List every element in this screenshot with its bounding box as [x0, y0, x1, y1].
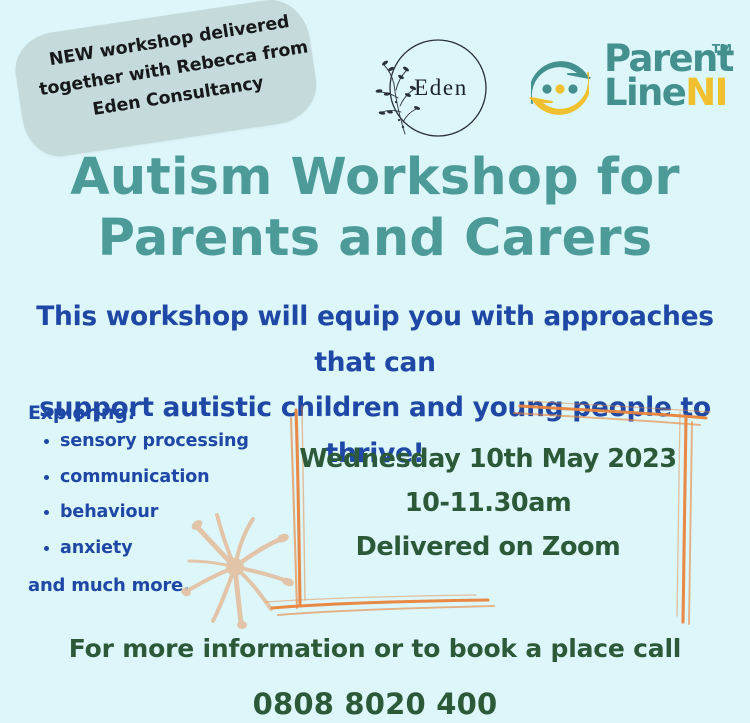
bullet-icon — [44, 475, 49, 480]
list-item-label: behaviour — [60, 502, 158, 522]
bullet-icon — [44, 439, 49, 444]
footer-section: For more information or to book a place … — [0, 634, 750, 721]
footer-phone-number[interactable]: 0808 8020 400 — [0, 687, 750, 721]
poster-title-line-1: Autism Workshop for — [0, 148, 750, 209]
poster-canvas: NEW workshop delivered together with Reb… — [0, 0, 750, 723]
bullet-icon — [44, 510, 49, 515]
footer-call-to-action: For more information or to book a place … — [0, 634, 750, 663]
event-details-text: Wednesday 10th May 2023 10-11.30am Deliv… — [290, 438, 686, 570]
parentline-ni-wordmark: Parent LineNI TM — [604, 42, 720, 134]
exploring-title: Exploring: — [28, 402, 288, 424]
event-platform: Delivered on Zoom — [290, 526, 686, 570]
event-date: Wednesday 10th May 2023 — [290, 438, 686, 482]
poster-title-line-2: Parents and Carers — [0, 209, 750, 270]
poster-title: Autism Workshop for Parents and Carers — [0, 148, 750, 269]
speech-bubble-swirl-icon — [518, 46, 602, 130]
list-item-label: sensory processing — [60, 431, 249, 451]
event-details-frame: Wednesday 10th May 2023 10-11.30am Deliv… — [262, 396, 714, 628]
new-workshop-badge-text: NEW workshop delivered together with Reb… — [26, 5, 322, 134]
new-workshop-badge: NEW workshop delivered together with Reb… — [10, 0, 321, 161]
trademark-symbol: TM — [712, 42, 732, 56]
wordmark-line: Line — [604, 71, 685, 114]
bullet-icon — [44, 546, 49, 551]
subheading-line-1: This workshop will equip you with approa… — [22, 294, 728, 385]
eden-consultancy-logo: Eden — [372, 32, 494, 144]
event-time: 10-11.30am — [290, 482, 686, 526]
list-item: sensory processing — [60, 433, 288, 451]
parentline-ni-logo: Parent LineNI TM — [518, 38, 718, 136]
eden-wordmark: Eden — [372, 32, 494, 144]
list-item: communication — [60, 469, 288, 487]
list-item-label: communication — [60, 467, 210, 487]
wordmark-ni: NI — [685, 71, 727, 114]
list-item-label: anxiety — [60, 538, 133, 558]
